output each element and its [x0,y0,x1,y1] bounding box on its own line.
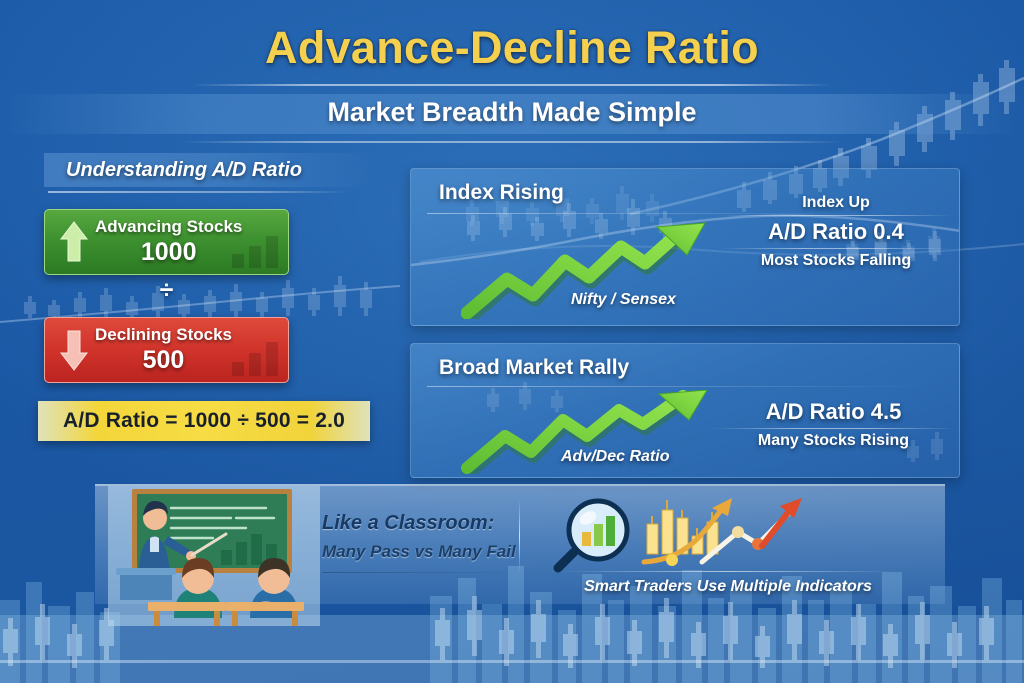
card-broad-market-rally[interactable]: Broad Market Rally Adv/Dec Ratio A/D Rat… [410,343,960,478]
card-rising-title: Index Rising [439,181,564,205]
card-rising-metric-0: Index Up [721,191,951,215]
classroom-illustration [108,486,320,626]
subtitle-divider [182,141,842,143]
section-heading: Understanding A/D Ratio [66,159,374,182]
indicator-caption: Smart Traders Use Multiple Indicators [563,578,893,596]
bottom-panel-separator [519,500,520,572]
card-rally-arrow-caption: Adv/Dec Ratio [561,448,669,466]
card-rally-metric-0: A/D Ratio 4.5 [711,396,956,428]
card-rising-metric-1: A/D Ratio 0.4 [721,216,951,248]
card-rally-metrics: A/D Ratio 4.5 Many Stocks Rising [711,396,956,453]
header: Advance-Decline Ratio Market Breadth Mad… [0,22,1024,143]
indicator-icons-group [552,494,842,576]
subtitle-band: Market Breadth Made Simple [0,94,1024,134]
ad-ratio-formula: A/D Ratio = 1000 ÷ 500 = 2.0 [63,409,345,433]
magnifier-bar-chart-icon [558,501,627,568]
declining-mini-bars [232,342,278,376]
indicator-caption-divider [560,571,896,572]
up-arrow-icon [59,220,89,264]
classroom-caption-line2: Many Pass vs Many Fail [322,542,522,562]
card-rising-metrics: Index Up A/D Ratio 0.4 Most Stocks Falli… [721,191,951,273]
card-rally-metric-1: Many Stocks Rising [711,429,956,453]
section-heading-divider [48,191,348,193]
card-index-rising[interactable]: Index Rising Nifty / Sensex Index Up A/D… [410,168,960,326]
card-rising-arrow-caption: Nifty / Sensex [571,291,676,309]
card-rising-metric-2: Most Stocks Falling [721,249,951,273]
advancing-stocks-card[interactable]: Advancing Stocks 1000 [44,209,289,275]
title-divider [192,84,832,86]
card-rally-title-divider [427,386,937,387]
infographic-canvas: Advance-Decline Ratio Market Breadth Mad… [0,0,1024,683]
declining-stocks-value: 500 [95,346,232,375]
section-heading-band: Understanding A/D Ratio [44,153,374,187]
page-title: Advance-Decline Ratio [0,22,1024,74]
down-arrow-icon [59,328,89,372]
classroom-caption-line1: Like a Classroom: [322,512,522,535]
left-panel: Understanding A/D Ratio Advancing Stocks… [44,153,374,441]
classroom-caption: Like a Classroom: Many Pass vs Many Fail [322,512,522,562]
card-rally-title: Broad Market Rally [439,356,629,380]
division-operator: ÷ [44,278,289,303]
declining-stocks-card[interactable]: Declining Stocks 500 [44,317,289,383]
advancing-stocks-value: 1000 [95,238,242,267]
classroom-caption-divider [322,572,507,573]
declining-stocks-label: Declining Stocks [95,325,232,345]
candlestick-arrow-up-icon [644,498,732,566]
page-subtitle: Market Breadth Made Simple [0,97,1024,128]
advancing-stocks-label: Advancing Stocks [95,217,242,237]
ad-ratio-formula-band: A/D Ratio = 1000 ÷ 500 = 2.0 [38,401,370,441]
